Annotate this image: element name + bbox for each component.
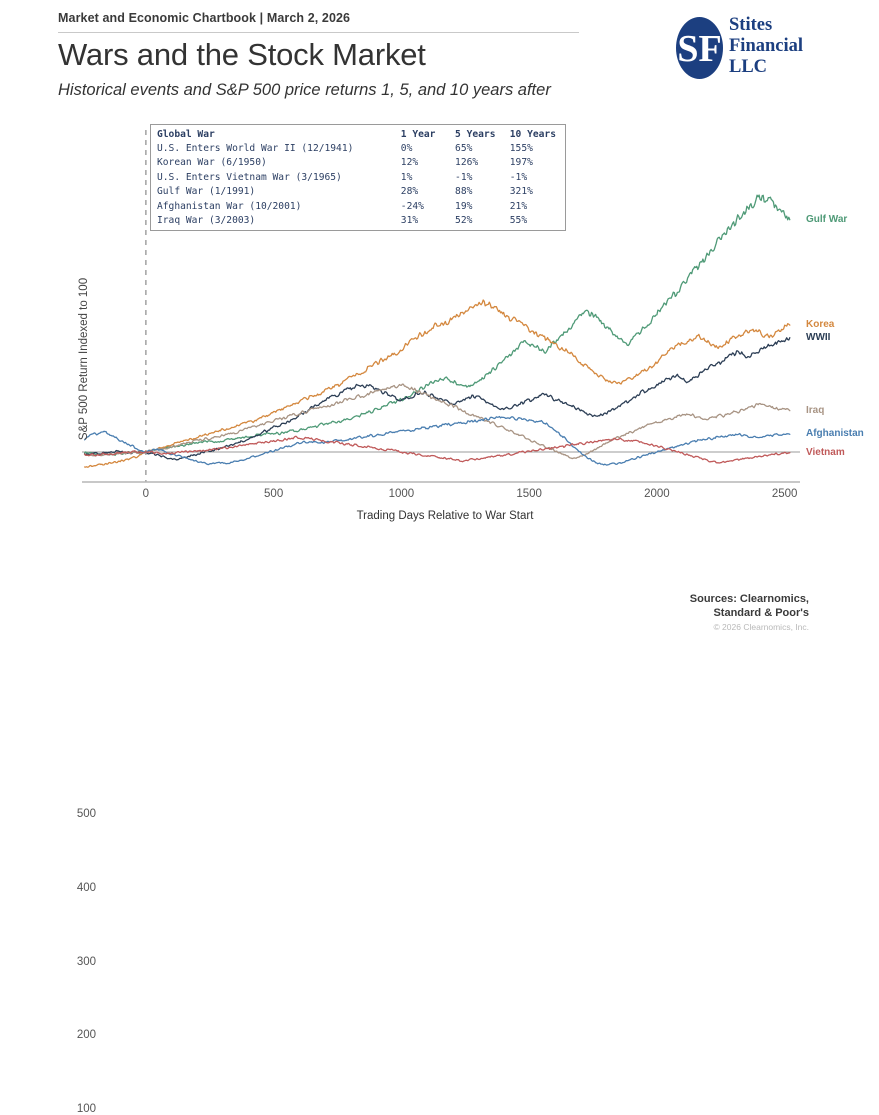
- table-row: U.S. Enters World War II (12/1941)0%65%1…: [151, 141, 565, 155]
- table-cell: U.S. Enters Vietnam War (3/1965): [151, 170, 401, 184]
- column-header-war: Global War: [151, 127, 401, 141]
- war-returns-table: Global War 1 Year 5 Years 10 Years U.S. …: [150, 124, 566, 231]
- table-cell: 52%: [455, 213, 510, 227]
- table-cell: Gulf War (1/1991): [151, 185, 401, 199]
- column-header-5years: 5 Years: [455, 127, 510, 141]
- table-cell: 28%: [401, 185, 455, 199]
- table-cell: Afghanistan War (10/2001): [151, 199, 401, 213]
- series-label-vietnam: Vietnam: [806, 447, 845, 458]
- y-axis-tick-label: 200: [56, 1029, 96, 1041]
- column-header-1year: 1 Year: [401, 127, 455, 141]
- column-header-10years: 10 Years: [510, 127, 565, 141]
- sources-line-1: Sources: Clearnomics,: [609, 592, 809, 606]
- table-cell: U.S. Enters World War II (12/1941): [151, 141, 401, 155]
- y-axis-tick-label: 100: [56, 1103, 96, 1115]
- copyright-note: © 2026 Clearnomics, Inc.: [609, 622, 809, 632]
- x-axis-tick-label: 2500: [755, 488, 815, 500]
- sources-line-2: Standard & Poor's: [609, 606, 809, 620]
- x-axis-tick-label: 0: [116, 488, 176, 500]
- table: Global War 1 Year 5 Years 10 Years U.S. …: [151, 127, 565, 228]
- table-cell: 197%: [510, 156, 565, 170]
- table-cell: 155%: [510, 141, 565, 155]
- series-label-wwii: WWII: [806, 332, 830, 343]
- series-label-gulf-war: Gulf War: [806, 214, 847, 225]
- series-label-korea: Korea: [806, 319, 834, 330]
- series-line-iraq: [85, 384, 790, 459]
- table-row: Korean War (6/1950)12%126%197%: [151, 156, 565, 170]
- y-axis-tick-label: 500: [56, 808, 96, 820]
- table-row: Gulf War (1/1991)28%88%321%: [151, 185, 565, 199]
- table-cell: 12%: [401, 156, 455, 170]
- table-cell: 1%: [401, 170, 455, 184]
- table-cell: 321%: [510, 185, 565, 199]
- table-cell: 126%: [455, 156, 510, 170]
- table-cell: Iraq War (3/2003): [151, 213, 401, 227]
- y-axis-tick-label: 400: [56, 882, 96, 894]
- chart-canvas: 100200300400500 05001000150020002500 S&P…: [0, 0, 879, 654]
- table-body: U.S. Enters World War II (12/1941)0%65%1…: [151, 141, 565, 227]
- table-cell: 21%: [510, 199, 565, 213]
- table-header-row: Global War 1 Year 5 Years 10 Years: [151, 127, 565, 141]
- x-axis-tick-label: 1000: [371, 488, 431, 500]
- x-axis-tick-label: 500: [244, 488, 304, 500]
- table-cell: 31%: [401, 213, 455, 227]
- table-cell: -24%: [401, 199, 455, 213]
- series-label-afghanistan: Afghanistan: [806, 428, 864, 439]
- sources-note: Sources: Clearnomics, Standard & Poor's: [609, 592, 809, 620]
- table-cell: 55%: [510, 213, 565, 227]
- table-cell: -1%: [455, 170, 510, 184]
- series-line-wwii: [85, 338, 790, 460]
- table-cell: 88%: [455, 185, 510, 199]
- y-axis-title: S&P 500 Return Indexed to 100: [78, 244, 90, 474]
- table-row: Afghanistan War (10/2001)-24%19%21%: [151, 199, 565, 213]
- table-row: U.S. Enters Vietnam War (3/1965)1%-1%-1%: [151, 170, 565, 184]
- table-row: Iraq War (3/2003)31%52%55%: [151, 213, 565, 227]
- y-axis-tick-label: 300: [56, 956, 96, 968]
- x-axis-tick-label: 1500: [499, 488, 559, 500]
- table-cell: 65%: [455, 141, 510, 155]
- chart-plot-area: [0, 0, 879, 654]
- x-axis-title: Trading Days Relative to War Start: [240, 510, 650, 522]
- table-cell: 0%: [401, 141, 455, 155]
- table-cell: Korean War (6/1950): [151, 156, 401, 170]
- series-label-iraq: Iraq: [806, 405, 824, 416]
- table-cell: -1%: [510, 170, 565, 184]
- table-cell: 19%: [455, 199, 510, 213]
- x-axis-tick-label: 2000: [627, 488, 687, 500]
